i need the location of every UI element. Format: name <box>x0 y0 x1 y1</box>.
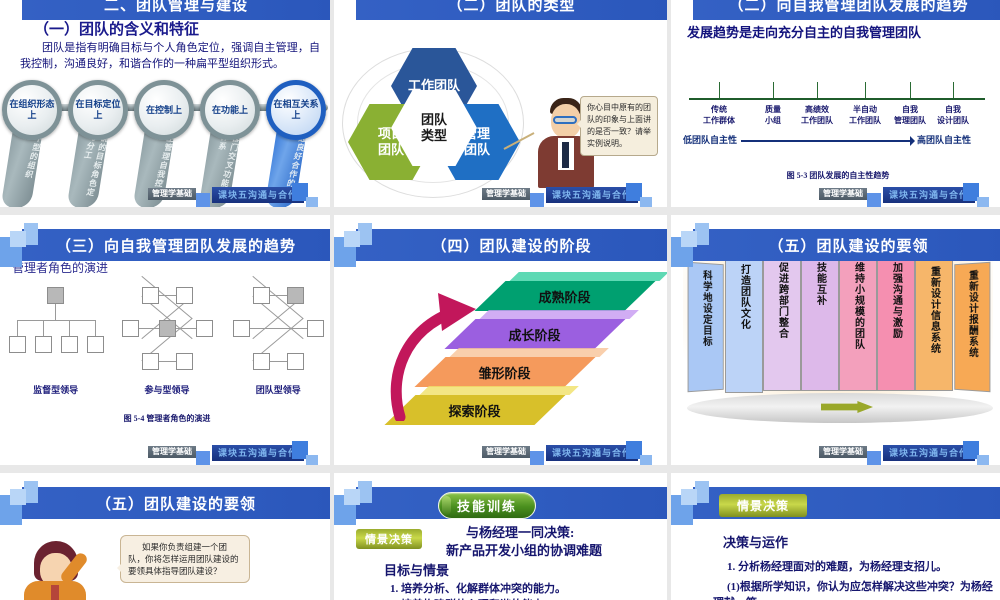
magnifier-lens-label: 在组织形态上 <box>7 99 57 121</box>
panel-label: 维持小规模的团队 <box>852 262 865 350</box>
magnifier-lens-label: 在目标定位上 <box>73 99 123 121</box>
org-node <box>142 353 159 370</box>
org-node <box>176 287 193 304</box>
slide-thumbnail-4[interactable]: （三）向自我管理团队发展的趋势 管理者角色的演进 监督型领导 <box>0 215 330 465</box>
decoration-square-icon <box>695 223 709 245</box>
task-item-2: (1)根据所学知识，你认为应怎样解决这些冲突？为杨经理献一策. <box>713 579 1000 600</box>
footer-module-badge: 课块五沟通与合作 <box>883 187 975 203</box>
org-chart-label: 团队型领导 <box>229 383 327 396</box>
footer-square-icon <box>867 451 881 465</box>
panel-label: 打造团队文化 <box>738 264 751 330</box>
org-node <box>253 353 270 370</box>
hexagon-diagram: 工作团队 项目 团队 管理 团队 团队 类型 <box>344 42 524 202</box>
scenario-tag: 情景决策 <box>719 494 807 517</box>
org-chart-supervisory: 监督型领导 <box>7 287 105 417</box>
figure-caption: 图 5-4 管理者角色的演进 <box>0 413 330 424</box>
magnifier-lens: 在功能上 <box>200 80 260 140</box>
stage-label: 成熟阶段 <box>539 287 591 306</box>
org-node <box>287 353 304 370</box>
org-connector <box>43 320 44 336</box>
footer-module-badge: 课块五沟通与合作 <box>546 445 638 461</box>
tie-shape <box>562 142 569 168</box>
slide-thumbnail-5[interactable]: （四）团队建设的阶段 成熟阶段 成长阶段 雏形阶段 探索阶段 <box>334 215 667 465</box>
footer-module-badge: 课块五沟通与合作 <box>212 445 304 461</box>
collar-shape <box>51 585 59 600</box>
autonomy-trend-chart: 传统 工作群体 质量 小组 高绩效 工作团队 半自动 工作团队 自我 管理团队 … <box>683 52 993 202</box>
org-connector <box>69 320 70 336</box>
panel-label: 技能互补 <box>814 262 827 306</box>
slide-footer: 管理学基础 课块五沟通与合作 <box>0 443 330 465</box>
org-node-root <box>47 287 64 304</box>
progress-arrow-icon <box>372 291 482 421</box>
footer-square-icon <box>306 197 318 207</box>
chart-caption: 图 5-3 团队发展的自主性趋势 <box>683 170 993 181</box>
org-connector <box>95 320 96 336</box>
slide-title: （四）团队建设的阶段 <box>431 235 591 256</box>
panel-7: 重新设计信息系统 <box>915 259 953 391</box>
org-node <box>35 336 52 353</box>
slide-footer: 管理学基础 课块五沟通与合作 <box>334 443 667 465</box>
decoration-square-icon <box>358 481 372 503</box>
slide-footer: 管理学基础 课块五沟通与合作 <box>671 443 1000 465</box>
footer-course-badge: 管理学基础 <box>482 188 530 200</box>
decoration-square-icon <box>681 231 697 247</box>
chart-tick <box>719 82 720 98</box>
footer-square-icon <box>640 455 652 465</box>
stage-label: 成长阶段 <box>509 325 561 344</box>
slide-title-bar: 二、团队管理与建设 <box>22 0 330 20</box>
decoration-square-icon <box>344 231 360 247</box>
org-node <box>233 320 250 337</box>
footer-course-badge: 管理学基础 <box>482 446 530 458</box>
chart-direction-arrow <box>741 140 913 142</box>
footer-module-badge: 课块五沟通与合作 <box>546 187 638 203</box>
magnifier-lens: 在目标定位上 <box>68 80 128 140</box>
magnifier-lens: 在组织形态上 <box>2 80 62 140</box>
slide-paragraph: 团队是指有明确目标与个人角色定位，强调自主管理，自我控制，沟通良好，和谐合作的一… <box>20 40 320 72</box>
panel-label: 促进跨部门整合 <box>776 262 789 339</box>
footer-square-icon <box>306 455 318 465</box>
magnifier-lens-label: 在控制上 <box>146 105 182 116</box>
footer-square-icon <box>640 197 652 207</box>
org-chart-team: 团队型领导 <box>229 287 327 417</box>
chart-tick <box>865 82 866 98</box>
slide-thumbnail-3[interactable]: （二）向自我管理团队发展的趋势 发展趋势是走向充分自主的自我管理团队 传统 工作… <box>671 0 1000 207</box>
footer-square-icon <box>530 193 544 207</box>
panel-1: 科学地设定目标 <box>688 262 724 393</box>
org-node-center <box>159 320 176 337</box>
org-node <box>122 320 139 337</box>
footer-square-icon <box>196 451 210 465</box>
org-node-highlight <box>287 287 304 304</box>
decoration-square-icon <box>358 223 372 245</box>
step-top-face <box>510 272 667 281</box>
chart-tick <box>910 82 911 98</box>
slide-thumbnail-6[interactable]: （五）团队建设的要领 科学地设定目标 打造团队文化 促进跨部门整合 技能互补 维… <box>671 215 1000 465</box>
slide-title-bar: （三）向自我管理团队发展的趋势 <box>22 229 330 261</box>
org-node <box>307 320 324 337</box>
footer-course-badge: 管理学基础 <box>148 188 196 200</box>
slide-thumbnail-1[interactable]: 二、团队管理与建设 （一）团队的含义和特征 团队是指有明确目标与个人角色定位，强… <box>0 0 330 207</box>
slide-lead-text: 管理者角色的演进 <box>12 259 108 276</box>
slide-title: （二）团队的类型 <box>447 0 575 15</box>
org-node <box>9 336 26 353</box>
panel-5: 维持小规模的团队 <box>839 255 877 391</box>
stage-step-4: 成熟阶段 <box>474 281 655 311</box>
chart-tick <box>953 82 954 98</box>
footer-course-badge: 管理学基础 <box>819 188 867 200</box>
org-node <box>196 320 213 337</box>
decoration-square-icon <box>24 481 38 503</box>
slide-title-bar: （五）团队建设的要领 <box>22 487 330 519</box>
panel-4: 技能互补 <box>801 255 839 391</box>
slide-title: （三）向自我管理团队发展的趋势 <box>56 235 296 256</box>
section-subtitle: 目标与情景 <box>384 563 449 579</box>
chart-axis-high-label: 高团队自主性 <box>917 133 971 146</box>
step-top-face <box>480 310 639 319</box>
magnifier-lens: 在控制上 <box>134 80 194 140</box>
slide-lead-text: 发展趋势是走向充分自主的自我管理团队 <box>687 22 921 41</box>
org-node <box>142 287 159 304</box>
org-chart-label: 监督型领导 <box>7 383 105 396</box>
chart-axis-low-label: 低团队自主性 <box>683 133 737 146</box>
org-node <box>87 336 104 353</box>
chart-axis-line <box>689 98 985 100</box>
slide-title: （五）团队建设的要领 <box>768 235 928 256</box>
footer-module-badge: 课块五沟通与合作 <box>212 187 304 203</box>
decoration-square-icon <box>10 231 26 247</box>
section-subtitle: 决策与运作 <box>723 535 788 551</box>
slide-thumbnail-7[interactable]: （五）团队建设的要领 如果你负责组建一个团队，你将怎样运用团队建设的要领具体指导… <box>0 473 330 600</box>
slide-footer: 管理学基础 课块五沟通与合作 <box>671 185 1000 207</box>
panel-label: 重新设计信息系统 <box>928 266 941 354</box>
slide-title-bar: （四）团队建设的阶段 <box>356 229 667 261</box>
decoration-square-icon <box>344 489 360 505</box>
decoration-square-icon <box>695 481 709 503</box>
slide-title: 二、团队管理与建设 <box>104 0 248 15</box>
org-chart-participative: 参与型领导 <box>118 287 216 417</box>
panel-label: 重新设计报酬系统 <box>966 270 978 359</box>
slide-thumbnail-8[interactable]: 技能训练 情景决策 与杨经理一同决策: 新产品开发小组的协调难题 目标与情景 1… <box>334 473 667 600</box>
footer-square-icon <box>977 455 989 465</box>
case-title-line-1: 与杨经理一同决策: <box>466 525 574 541</box>
magnifier-lens: 在相互关系上 <box>266 80 326 140</box>
footer-square-icon <box>867 193 881 207</box>
footer-square-icon <box>977 197 989 207</box>
org-node <box>176 353 193 370</box>
org-chart-label: 参与型领导 <box>118 383 216 396</box>
folding-panel-diagram: 科学地设定目标 打造团队文化 促进跨部门整合 技能互补 维持小规模的团队 加强沟… <box>687 255 991 405</box>
panel-label: 加强沟通与激励 <box>890 262 903 339</box>
slide-title-bar: （二）团队的类型 <box>356 0 667 20</box>
chart-tick <box>773 82 774 98</box>
org-connector <box>17 320 95 321</box>
panel-3: 促进跨部门整合 <box>763 255 801 391</box>
magnifier-lens-label: 在相互关系上 <box>271 99 321 121</box>
footer-module-badge: 课块五沟通与合作 <box>883 445 975 461</box>
slide-footer: 管理学基础 课块五沟通与合作 <box>0 185 330 207</box>
decoration-square-icon <box>10 489 26 505</box>
speech-bubble: 你心目中原有的团队的印象与上面讲的是否一致？请举实例说明。 <box>580 96 658 156</box>
student-illustration <box>24 541 114 600</box>
scenario-tag: 情景决策 <box>356 529 422 549</box>
slide-thumbnail-9[interactable]: 情景决策 决策与运作 1. 分析杨经理面对的难题，为杨经理支招儿。 (1)根据所… <box>671 473 1000 600</box>
slide-thumbnail-grid: 二、团队管理与建设 （一）团队的含义和特征 团队是指有明确目标与个人角色定位，强… <box>0 0 1000 600</box>
slide-title-bar: （二）向自我管理团队发展的趋势 <box>693 0 1000 20</box>
footer-course-badge: 管理学基础 <box>819 446 867 458</box>
slide-thumbnail-2[interactable]: （二）团队的类型 工作团队 项目 团队 管理 团队 团队 类型 你心目中原有的团… <box>334 0 667 207</box>
decoration-square-icon <box>681 489 697 505</box>
panel-6: 加强沟通与激励 <box>877 255 915 391</box>
slide-title-bar: （五）团队建设的要领 <box>693 229 1000 261</box>
stage-staircase-diagram: 成熟阶段 成长阶段 雏形阶段 探索阶段 <box>364 273 654 443</box>
org-connector <box>17 320 18 336</box>
slide-footer: 管理学基础 课块五沟通与合作 <box>334 185 667 207</box>
panel-8: 重新设计报酬系统 <box>954 262 990 393</box>
panel-2: 打造团队文化 <box>725 257 763 393</box>
case-title-line-2: 新产品开发小组的协调难题 <box>446 543 602 559</box>
panel-label: 科学地设定目标 <box>700 270 712 348</box>
chart-category-label: 自我 设计团队 <box>925 104 981 126</box>
org-connector <box>248 328 310 329</box>
org-node <box>61 336 78 353</box>
org-node <box>253 287 270 304</box>
footer-square-icon <box>196 193 210 207</box>
footer-course-badge: 管理学基础 <box>148 446 196 458</box>
objective-item-1: 1. 培养分析、化解群体冲突的能力。 <box>390 581 566 597</box>
speech-bubble: 如果你负责组建一个团队，你将怎样运用团队建设的要领具体指导团队建设？ <box>120 535 250 583</box>
stage-label: 雏形阶段 <box>479 363 531 382</box>
skill-training-pill: 技能训练 <box>438 492 536 519</box>
magnifier-lens-label: 在功能上 <box>212 105 248 116</box>
task-item-1: 1. 分析杨经理面对的难题，为杨经理支招儿。 <box>727 559 947 575</box>
slide-title: （五）团队建设的要领 <box>96 493 256 514</box>
org-chart-row: 监督型领导 参与型领导 <box>0 287 330 417</box>
slide-heading: （一）团队的含义和特征 <box>34 18 199 39</box>
decoration-square-icon <box>24 223 38 245</box>
org-connector <box>55 304 56 320</box>
slide-title: （二）向自我管理团队发展的趋势 <box>728 0 968 15</box>
chart-category-label: 传统 工作群体 <box>691 104 747 126</box>
footer-square-icon <box>530 451 544 465</box>
chart-tick <box>817 82 818 98</box>
